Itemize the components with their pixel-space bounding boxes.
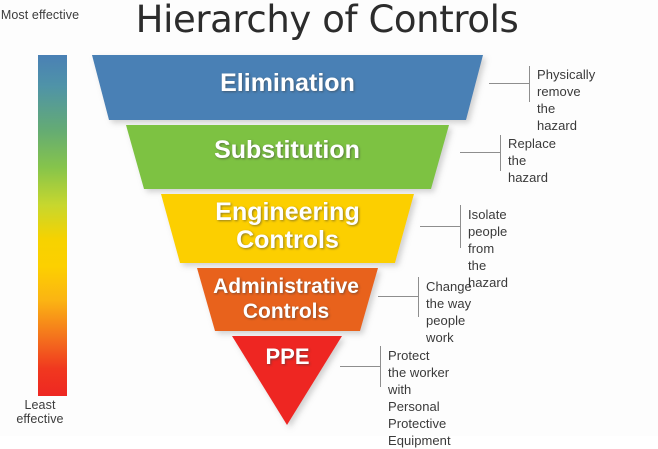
pyramid-band-ppe xyxy=(232,336,342,425)
callout-text-substitution: Replace the hazard xyxy=(508,135,556,186)
callout-tick-line xyxy=(380,346,381,387)
callout-tick-line xyxy=(418,277,419,317)
callout-text-engineering-controls: Isolate people from the hazard xyxy=(468,206,508,291)
callout-tick-line xyxy=(529,66,530,102)
callout-leader-line xyxy=(378,296,418,297)
hierarchy-of-controls-diagram: Most effective Least effective Hierarchy… xyxy=(0,0,658,436)
pyramid-band-administrative-controls xyxy=(197,268,378,331)
callout-leader-line xyxy=(460,152,500,153)
callout-tick-line xyxy=(500,135,501,171)
callout-text-administrative-controls: Change the way people work xyxy=(426,278,472,346)
pyramid-band-engineering-controls xyxy=(161,194,414,263)
callout-leader-line xyxy=(489,83,529,84)
callout-leader-line xyxy=(340,366,380,367)
pyramid-band-elimination xyxy=(92,55,483,120)
pyramid-band-substitution xyxy=(126,125,449,189)
callout-text-ppe: Protect the worker with Personal Protect… xyxy=(388,347,451,449)
callout-tick-line xyxy=(460,205,461,248)
callout-text-elimination: Physically remove the hazard xyxy=(537,66,595,134)
callout-leader-line xyxy=(420,226,460,227)
